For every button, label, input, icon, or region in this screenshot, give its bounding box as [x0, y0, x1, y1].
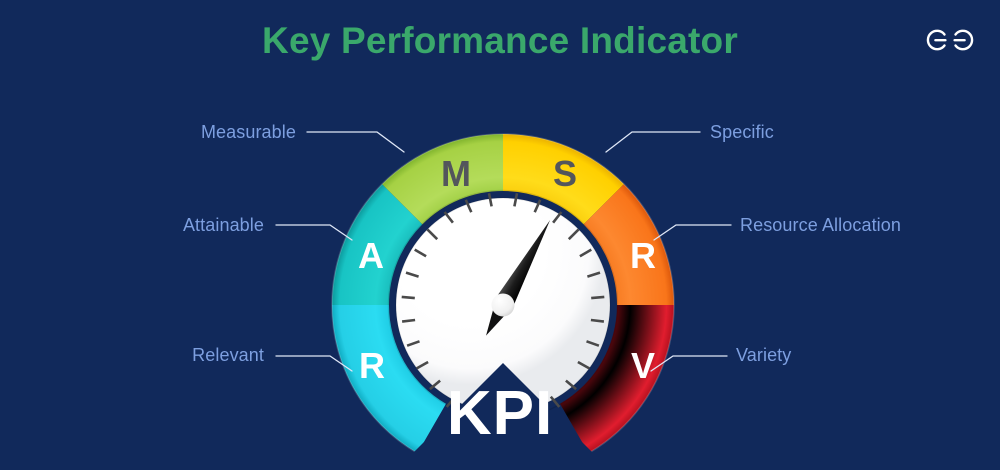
- gauge-letter-measurable: M: [441, 153, 471, 194]
- gauge-letter-specific: S: [553, 153, 577, 194]
- kpi-caption: KPI: [0, 378, 1000, 449]
- gauge-needle-hub: [492, 294, 515, 317]
- callout-label-variety: Variety: [736, 345, 791, 366]
- leader-line-specific: [606, 132, 700, 152]
- gauge-letter-resource: R: [630, 235, 656, 276]
- leader-line-measurable: [307, 132, 404, 152]
- gauge-letter-attainable: A: [358, 235, 384, 276]
- callout-label-attainable: Attainable: [0, 215, 264, 236]
- callout-label-resource-allocation: Resource Allocation: [740, 215, 901, 236]
- infographic-canvas: Key Performance Indicator: [0, 0, 1000, 470]
- leader-line-attainable: [276, 225, 352, 240]
- callout-label-measurable: Measurable: [0, 122, 296, 143]
- callout-label-relevant: Relevant: [0, 345, 264, 366]
- callout-label-specific: Specific: [710, 122, 774, 143]
- leader-line-resource: [654, 225, 731, 240]
